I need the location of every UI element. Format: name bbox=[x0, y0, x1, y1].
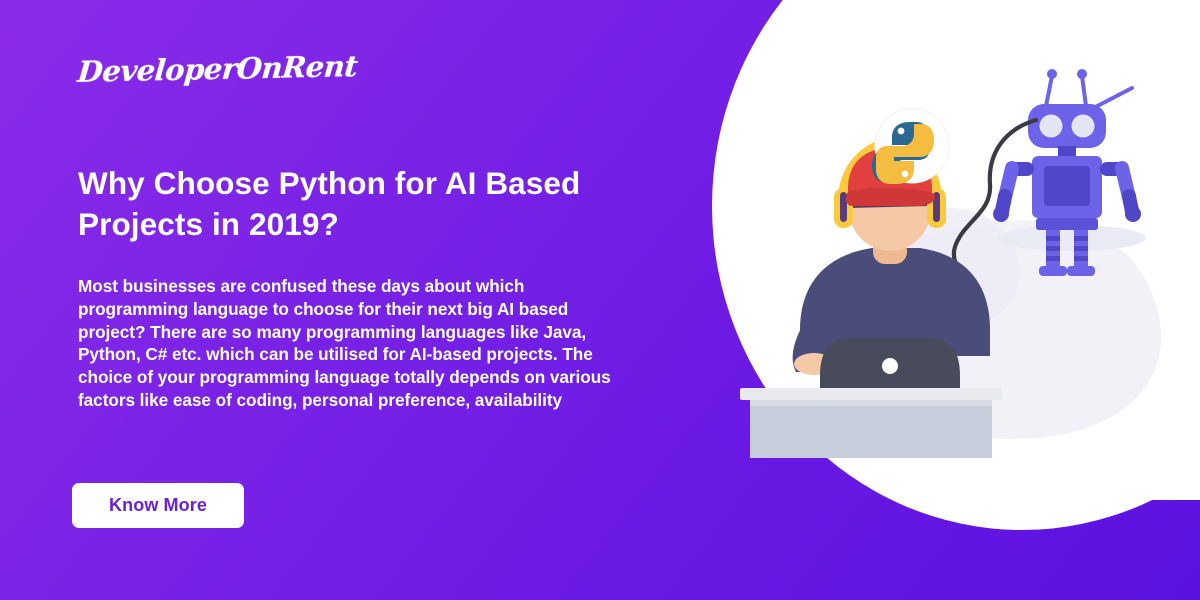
robot-right-arm bbox=[1100, 162, 1141, 222]
hero-description: Most businesses are confused these days … bbox=[78, 275, 630, 411]
promo-banner: DeveloperOnRent Why Choose Python for AI… bbox=[0, 0, 1200, 600]
hero-illustration bbox=[740, 60, 1200, 480]
desk bbox=[740, 388, 1002, 458]
brand-logo[interactable]: DeveloperOnRent bbox=[76, 49, 359, 89]
robot-left-arm bbox=[993, 162, 1034, 222]
banner-content: DeveloperOnRent Why Choose Python for AI… bbox=[0, 0, 700, 600]
laptop-logo-dot bbox=[882, 358, 898, 374]
page-title: Why Choose Python for AI Based Projects … bbox=[78, 163, 658, 244]
know-more-button[interactable]: Know More bbox=[72, 483, 244, 528]
laptop-icon bbox=[820, 338, 960, 390]
python-logo-icon bbox=[872, 109, 949, 184]
